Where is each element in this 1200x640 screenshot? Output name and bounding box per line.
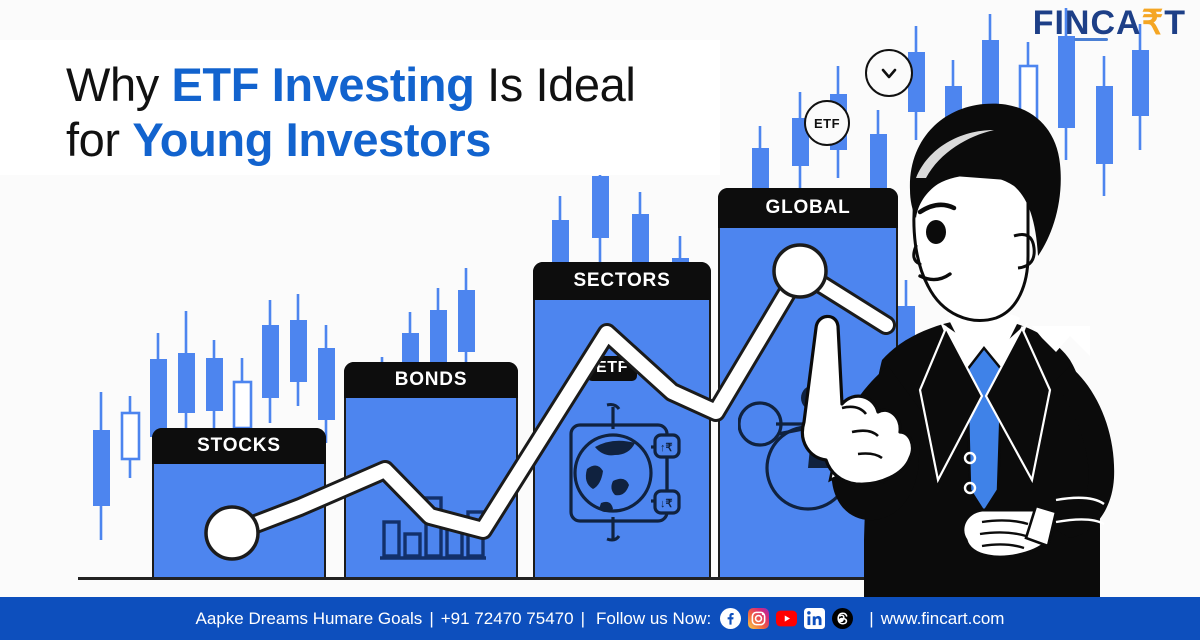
footer-tagline: Aapke Dreams Humare Goals — [196, 609, 423, 629]
badge-check-circle — [865, 49, 913, 97]
threads-icon[interactable] — [832, 608, 853, 629]
logo-text-part-1: FINCA — [1033, 6, 1142, 40]
badge-etf-circle: ETF — [804, 100, 850, 146]
linkedin-icon[interactable] — [804, 608, 825, 629]
banner-canvas: STOCKS BONDS SECTORS ETF — [0, 0, 1200, 640]
headline-line2-a: for — [66, 113, 132, 166]
logo-text-part-2: T — [1164, 6, 1186, 40]
headline-line1-c: Is Ideal — [474, 58, 635, 111]
headline-line1-b: ETF Investing — [171, 58, 474, 111]
headline-line2-b: Young Investors — [132, 113, 491, 166]
footer-website[interactable]: www.fincart.com — [881, 609, 1005, 629]
footer-separator-1: | — [422, 609, 440, 629]
facebook-icon[interactable] — [720, 608, 741, 629]
logo-rupee-icon: ₹ — [1142, 6, 1165, 40]
footer-separator-3: | — [862, 609, 880, 629]
footer-phone[interactable]: +91 72470 75470 — [441, 609, 574, 629]
footer-follow-label: Follow us Now: — [592, 609, 711, 629]
logo-underline — [1074, 38, 1108, 41]
badge-etf-label: ETF — [814, 116, 840, 131]
headline-line-2: for Young Investors — [66, 113, 635, 168]
page-title: Why ETF Investing Is Ideal for Young Inv… — [66, 58, 635, 167]
social-links — [720, 608, 853, 629]
footer-bar: Aapke Dreams Humare Goals | +91 72470 75… — [0, 597, 1200, 640]
headline-line1-a: Why — [66, 58, 171, 111]
footer-separator-2: | — [574, 609, 592, 629]
headline-line-1: Why ETF Investing Is Ideal — [66, 58, 635, 113]
chevron-down-icon — [877, 61, 901, 85]
instagram-icon[interactable] — [748, 608, 769, 629]
fincart-logo[interactable]: FINCA₹T — [1033, 6, 1186, 40]
youtube-icon[interactable] — [776, 608, 797, 629]
